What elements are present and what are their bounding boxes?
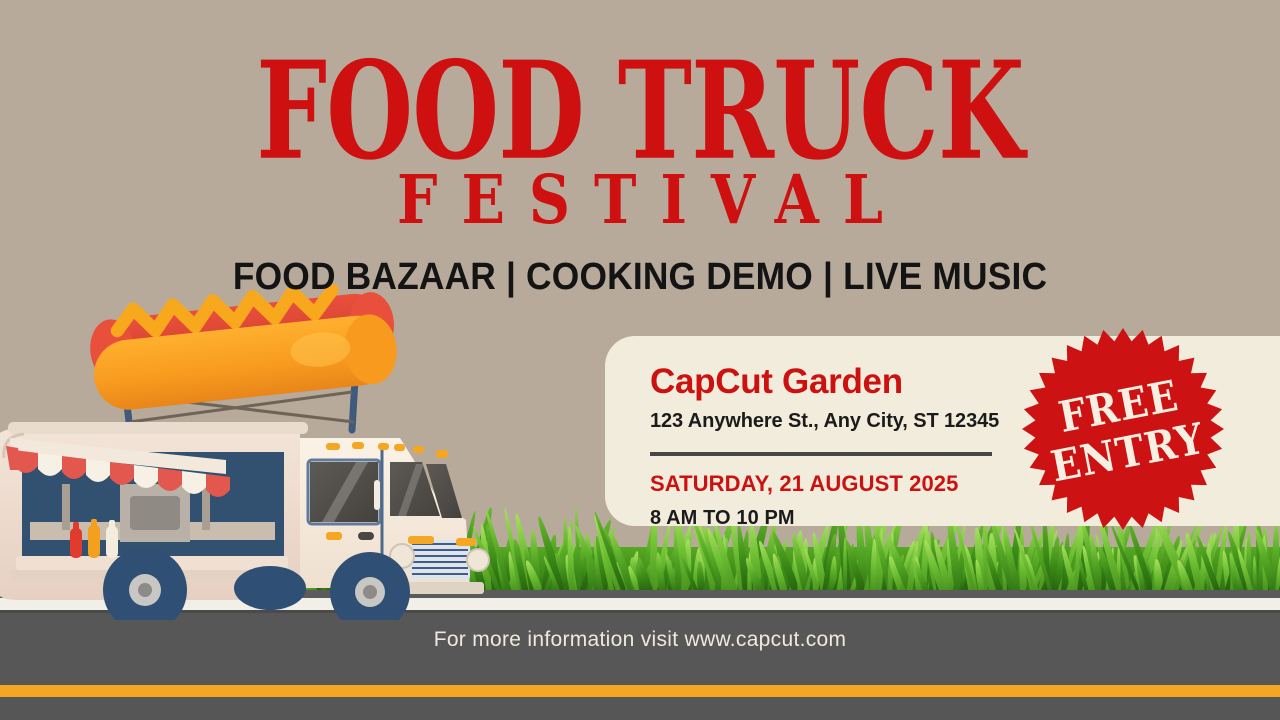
- free-entry-badge: FREE ENTRY: [1020, 326, 1226, 532]
- giant-hot-dog-topper: [86, 282, 400, 430]
- page-subtitle: FESTIVAL: [51, 154, 1229, 234]
- page-title: FOOD TRUCK: [90, 0, 1191, 179]
- badge-text-group: FREE ENTRY: [1002, 308, 1244, 550]
- road-lower-band: [0, 697, 1280, 720]
- footer-info-text: For more information visit www.capcut.co…: [0, 628, 1280, 652]
- condiment-bottles: [70, 519, 118, 558]
- card-divider: [650, 452, 992, 456]
- food-truck-illustration: [0, 270, 530, 620]
- road-orange-line: [0, 685, 1280, 697]
- poster-canvas: FOOD TRUCK FESTIVAL FOOD BAZAAR | COOKIN…: [0, 0, 1280, 720]
- headline-block: FOOD TRUCK FESTIVAL FOOD BAZAAR | COOKIN…: [0, 0, 1280, 296]
